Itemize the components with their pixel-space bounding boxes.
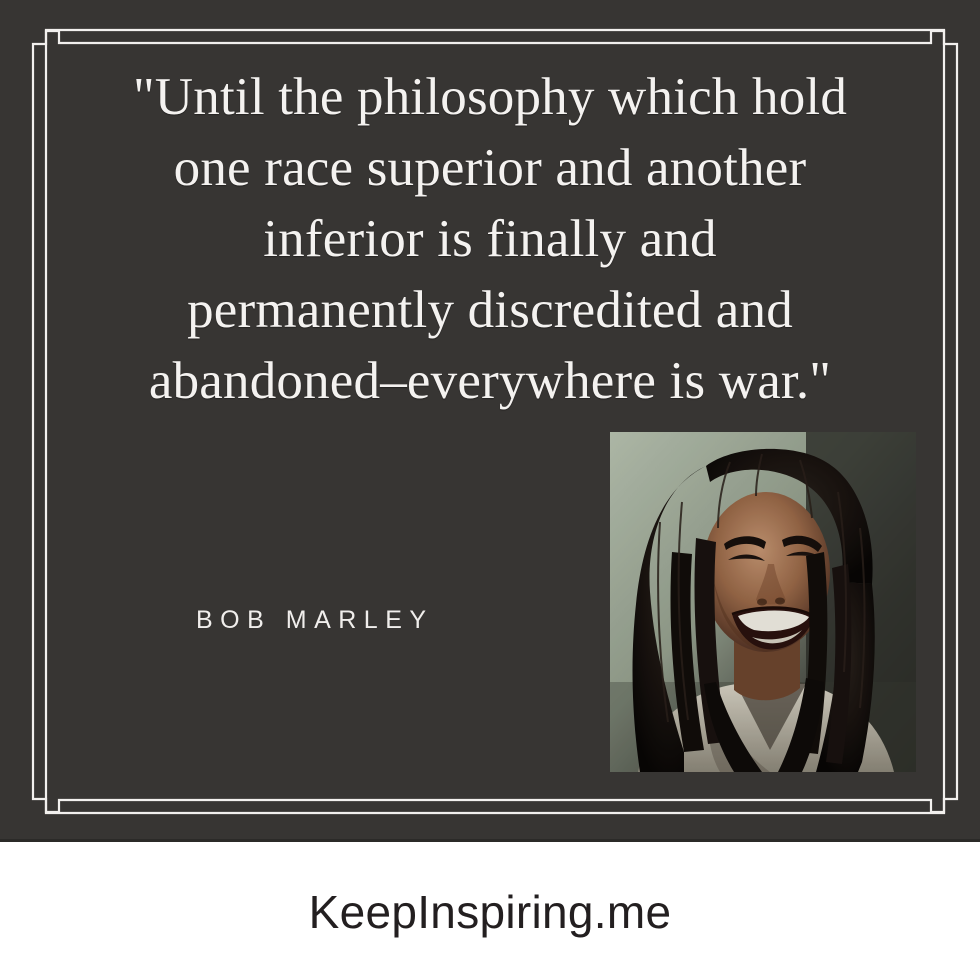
- quote-line-5: abandoned–everywhere is war.": [48, 346, 932, 417]
- quote-line-2: one race superior and another: [48, 133, 932, 204]
- quote-card: "Until the philosophy which hold one rac…: [0, 0, 980, 980]
- footer-bar: KeepInspiring.me: [0, 843, 980, 980]
- quote-line-3: inferior is finally and: [48, 204, 932, 275]
- quote-line-1: "Until the philosophy which hold: [48, 62, 932, 133]
- brand-wordmark: KeepInspiring.me: [309, 885, 672, 939]
- panel-bottom-edge: [0, 839, 980, 842]
- bob-marley-portrait-image: [610, 432, 916, 772]
- portrait-photo: [610, 432, 916, 772]
- quote-attribution: BOB MARLEY: [196, 606, 434, 635]
- quote-text: "Until the philosophy which hold one rac…: [48, 62, 932, 417]
- quote-line-4: permanently discredited and: [48, 275, 932, 346]
- quote-panel: "Until the philosophy which hold one rac…: [0, 0, 980, 842]
